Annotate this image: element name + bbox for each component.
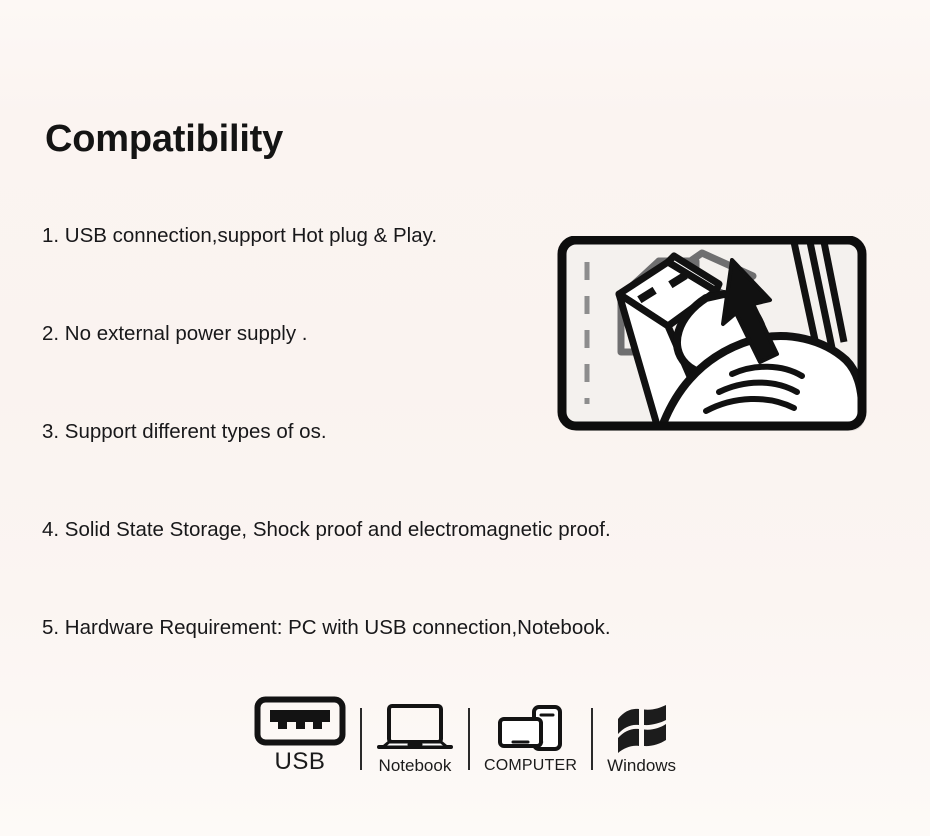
badge-computer: COMPUTER [470, 702, 591, 774]
windows-flag-icon [614, 701, 670, 753]
badge-label: Windows [607, 757, 676, 774]
list-item: 3. Support different types of os. [42, 420, 742, 518]
list-item: 5. Hardware Requirement: PC with USB con… [42, 616, 742, 640]
badge-label: USB [275, 750, 326, 774]
badge-windows: Windows [593, 701, 690, 774]
desktop-computer-icon [494, 702, 568, 754]
badge-label: Notebook [379, 757, 452, 774]
badge-notebook: Notebook [362, 701, 468, 774]
page-title: Compatibility [45, 120, 283, 158]
list-item: 4. Solid State Storage, Shock proof and … [42, 518, 742, 616]
badge-label: COMPUTER [484, 758, 577, 774]
badge-usb: USB [240, 694, 360, 774]
usb-port-icon [254, 694, 346, 746]
notebook-laptop-icon [376, 701, 454, 753]
usb-insertion-illustration [556, 236, 868, 432]
compatibility-badge-strip: USB Notebook COMPUTER [0, 694, 930, 774]
